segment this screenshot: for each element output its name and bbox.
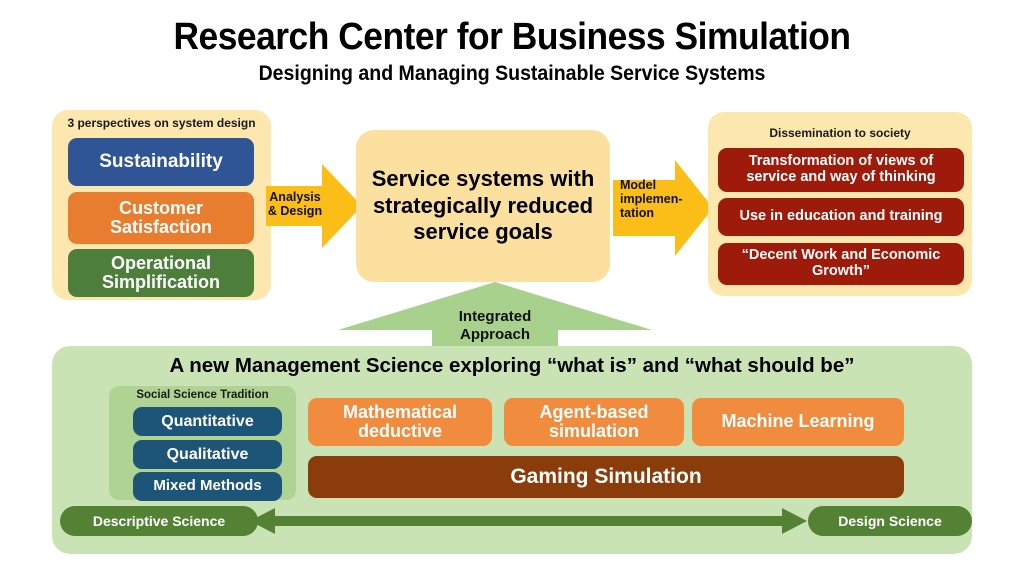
method-agent-based-simulation-label: Agent-based simulation [510,403,678,442]
social-science-item-quantitative-label: Quantitative [161,413,253,430]
perspectives-caption: 3 perspectives on system design [52,116,271,130]
perspective-operational-simplification-label: Operational Simplification [74,254,248,293]
center-service-systems-box[interactable]: Service systems with strategically reduc… [356,130,610,282]
dissemination-item-education-label: Use in education and training [739,209,942,225]
method-machine-learning[interactable]: Machine Learning [692,398,904,446]
dissemination-caption: Dissemination to society [708,126,972,140]
perspective-sustainability-label: Sustainability [99,152,223,173]
social-science-item-qualitative[interactable]: Qualitative [133,440,282,469]
gaming-simulation-label: Gaming Simulation [510,466,701,489]
dissemination-item-education[interactable]: Use in education and training [718,198,964,236]
diagram-canvas: Research Center for Business Simulation … [0,0,1024,576]
arrow-integrated-approach-line2: Approach [338,326,652,344]
dissemination-item-transformation-label: Transformation of views of service and w… [724,154,958,185]
arrow-analysis-design-label-line2: & Design [266,204,324,218]
dissemination-item-decent-work-label: “Decent Work and Economic Growth” [724,248,958,279]
social-science-tradition-caption: Social Science Tradition [109,389,296,401]
perspective-operational-simplification[interactable]: Operational Simplification [68,249,254,297]
social-science-item-mixed-methods[interactable]: Mixed Methods [133,472,282,501]
social-science-item-qualitative-label: Qualitative [167,446,249,463]
arrow-analysis-design: Analysis & Design [266,160,362,252]
dissemination-item-decent-work[interactable]: “Decent Work and Economic Growth” [718,243,964,285]
perspective-customer-satisfaction-label: Customer Satisfaction [74,199,248,238]
arrow-model-implementation-line3: tation [613,206,675,220]
perspective-sustainability[interactable]: Sustainability [68,138,254,186]
method-agent-based-simulation[interactable]: Agent-based simulation [504,398,684,446]
arrow-integrated-approach-line1: Integrated [338,308,652,326]
arrow-model-implementation: Model implemen- tation [613,160,713,256]
management-science-heading: A new Management Science exploring “what… [0,354,1024,378]
page-subtitle: Designing and Managing Sustainable Servi… [36,62,988,86]
spectrum-descriptive-science[interactable]: Descriptive Science [60,506,258,536]
method-mathematical-deductive[interactable]: Mathematical deductive [308,398,492,446]
arrow-model-implementation-line2: implemen- [613,192,679,206]
spectrum-descriptive-science-label: Descriptive Science [93,513,225,529]
center-service-systems-text: Service systems with strategically reduc… [368,166,598,246]
page-title: Research Center for Business Simulation [36,16,988,59]
spectrum-design-science-label: Design Science [838,513,942,529]
method-mathematical-deductive-label: Mathematical deductive [314,403,486,442]
social-science-item-quantitative[interactable]: Quantitative [133,407,282,436]
perspective-customer-satisfaction[interactable]: Customer Satisfaction [68,192,254,244]
gaming-simulation-bar[interactable]: Gaming Simulation [308,456,904,498]
dissemination-item-transformation[interactable]: Transformation of views of service and w… [718,148,964,192]
arrow-model-implementation-line1: Model [613,178,675,192]
spectrum-design-science[interactable]: Design Science [808,506,972,536]
method-machine-learning-label: Machine Learning [721,412,874,431]
social-science-item-mixed-methods-label: Mixed Methods [153,478,261,494]
arrow-analysis-design-label-line1: Analysis [266,190,324,204]
